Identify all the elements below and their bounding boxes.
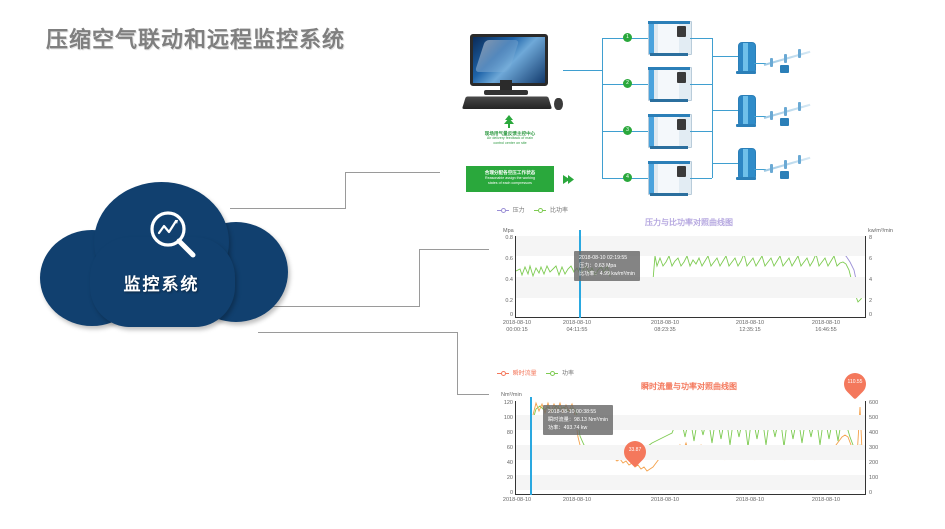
flow-x-tick-0: 2018-08-10 <box>487 497 547 504</box>
flow-y-tick-left-1: 100 <box>491 415 513 421</box>
legend-label-specific-power: 比功率 <box>550 208 568 214</box>
y-tick-right-4: 0 <box>869 312 891 318</box>
connector-line-middle-upper <box>419 249 489 250</box>
x-tick-4-date: 2018-08-10 <box>812 320 840 326</box>
pressure-y-axis-line-right <box>865 236 866 318</box>
y-tick-left-4: 0 <box>491 312 513 318</box>
flow-y-tick-left-0: 120 <box>491 400 513 406</box>
node-marker-2: 2 <box>623 79 632 88</box>
legend-item-specific-power[interactable]: 比功率 <box>534 205 568 214</box>
x-tick-2-time: 08:23:35 <box>654 327 675 333</box>
air-tank-foot <box>736 71 756 74</box>
pipe-collect-1 <box>690 38 712 39</box>
flow-tooltip: 2018-08-10 00:38:55 瞬时流量：98.13 Nm³/min 功… <box>543 405 613 435</box>
compressor-top <box>648 161 690 164</box>
green-arrow-right-icon <box>562 173 575 186</box>
plot-band-1 <box>516 236 865 256</box>
x-tick-1-time: 04:11:55 <box>566 327 587 333</box>
flow-x-tick-2: 2018-08-10 <box>635 497 695 504</box>
flow-tooltip-line1: 瞬时流量：98.13 Nm³/min <box>548 416 608 424</box>
working-state-callout-cn: 合理分配各空压工作状态 <box>466 169 554 176</box>
x-tick-1: 2018-08-10 04:11:55 <box>547 320 607 334</box>
connector-line-bottom <box>258 332 458 333</box>
pipe-out-3 <box>712 163 738 164</box>
magnifier-chart-icon <box>144 206 204 266</box>
compressor-unit-4 <box>648 161 690 197</box>
node-marker-1: 1 <box>623 33 632 42</box>
mouse-icon <box>554 98 563 110</box>
flow-y-tick-left-5: 20 <box>491 475 513 481</box>
machine-icon <box>780 171 789 179</box>
green-tree-icon <box>501 114 517 130</box>
pressure-y-axis-unit: Mpa <box>503 228 514 234</box>
flow-tooltip-time: 2018-08-10 00:38:55 <box>548 408 608 416</box>
connector-line-top-vertical <box>345 172 346 209</box>
drop-line-3 <box>798 49 801 58</box>
monitoring-system-cloud[interactable]: 监控系统 <box>34 182 289 327</box>
compressor-control-panel <box>677 72 686 83</box>
system-diagram: 现场用气量反馈主控中心 Air delivery feedback of mai… <box>440 18 940 200</box>
flow-y-tick-left-6: 0 <box>491 490 513 496</box>
legend-item-instant-flow[interactable]: 瞬时流量 <box>497 368 537 377</box>
pin-value-min: 33.87 <box>624 447 646 453</box>
pipe-monitor-to-bus <box>563 70 603 71</box>
x-tick-2: 2018-08-10 08:23:35 <box>635 320 695 334</box>
y-tick-left-3: 0.2 <box>491 298 513 304</box>
pipe-collect-2 <box>690 84 712 85</box>
flow-x-tick-1: 2018-08-10 <box>547 497 607 504</box>
flow-vs-power-chart[interactable]: 瞬时流量 功率 瞬时流量与功率对照曲线图 Nm³/min 120 100 80 … <box>489 363 889 529</box>
y-tick-right-1: 6 <box>869 256 891 262</box>
pressure-chart-legend[interactable]: 压力 比功率 <box>497 205 576 214</box>
flow-y-tick-right-4: 200 <box>869 460 891 466</box>
flow-marker-pin-max[interactable]: 110.55 <box>844 373 866 401</box>
flow-marker-pin-min[interactable]: 33.87 <box>624 441 646 469</box>
flow-chart-legend[interactable]: 瞬时流量 功率 <box>497 368 582 377</box>
legend-label-pressure: 压力 <box>513 208 525 214</box>
x-tick-3-time: 12:35:15 <box>739 327 760 333</box>
compressor-unit-2 <box>648 67 690 103</box>
pressure-tooltip-line1: 压力：0.63 Mpa <box>579 262 635 270</box>
x-tick-0-date: 2018-08-10 <box>503 320 531 326</box>
flow-y-axis-unit: Nm³/min <box>501 392 522 398</box>
x-tick-0: 2018-08-10 00:00:15 <box>487 320 547 334</box>
flow-x-tick-4: 2018-08-10 <box>796 497 856 504</box>
keyboard-icon <box>462 97 552 110</box>
legend-marker-pressure <box>497 207 509 213</box>
flow-y-tick-left-2: 80 <box>491 430 513 436</box>
drop-line-2 <box>784 107 787 116</box>
flow-y-tick-right-0: 600 <box>869 400 891 406</box>
x-tick-1-date: 2018-08-10 <box>563 320 591 326</box>
compressor-control-panel <box>677 119 686 130</box>
y-tick-left-1: 0.6 <box>491 256 513 262</box>
compressor-foot <box>650 146 688 149</box>
compressor-top <box>648 114 690 117</box>
y-tick-right-0: 8 <box>869 235 891 241</box>
connector-line-bottom-vertical <box>457 332 458 395</box>
pressure-y-axis-unit-right: kw/m³/min <box>868 228 893 234</box>
air-tank-foot <box>736 177 756 180</box>
x-tick-3: 2018-08-10 12:35:15 <box>720 320 780 334</box>
flow-cursor-line <box>530 397 532 495</box>
compressor-unit-3 <box>648 114 690 150</box>
legend-marker-specific-power <box>534 207 546 213</box>
drop-line-1 <box>770 58 773 67</box>
air-tank-foot <box>736 124 756 127</box>
x-tick-3-date: 2018-08-10 <box>736 320 764 326</box>
flow-plot-band-3 <box>516 475 865 490</box>
pressure-tooltip-time: 2018-08-10 02:19:55 <box>579 254 635 262</box>
pipe-collect-4 <box>690 178 712 179</box>
legend-label-power: 功率 <box>562 371 574 377</box>
node-marker-4: 4 <box>623 173 632 182</box>
control-center-label: 现场用气量反馈主控中心 Air delivery feedback of mai… <box>462 131 558 146</box>
legend-marker-instant-flow <box>497 370 509 376</box>
drop-line-2 <box>784 54 787 63</box>
machine-icon <box>780 65 789 73</box>
pressure-tooltip-line2: 比功率：4.99 kw/m³/min <box>579 270 635 278</box>
drop-line-3 <box>798 155 801 164</box>
compressor-foot <box>650 99 688 102</box>
working-state-callout: 合理分配各空压工作状态 Reasonable assign the workin… <box>466 166 554 192</box>
pressure-chart-title: 压力与比功率对照曲线图 <box>489 217 889 228</box>
compressor-foot <box>650 53 688 56</box>
pressure-x-axis-line <box>515 317 866 318</box>
plot-band-2 <box>516 277 865 298</box>
monitor-base <box>484 90 528 95</box>
connector-line-middle-vertical <box>419 249 420 307</box>
control-center-label-en2: control center on site <box>493 141 526 145</box>
control-center-label-en1: Air delivery feedback of main <box>487 136 533 140</box>
air-tank-icon <box>738 42 756 74</box>
flow-y-tick-right-6: 0 <box>869 490 891 496</box>
flow-tooltip-line2: 功率：493.74 kw <box>548 424 608 432</box>
flow-y-tick-right-3: 300 <box>869 445 891 451</box>
pipe-out-1 <box>712 56 738 57</box>
flow-chart-title: 瞬时流量与功率对照曲线图 <box>489 381 889 392</box>
page-title: 压缩空气联动和远程监控系统 <box>46 22 345 54</box>
connector-line-bottom-lower <box>457 394 489 395</box>
cloud-label: 监控系统 <box>34 270 289 295</box>
pin-value-max: 110.55 <box>844 379 866 385</box>
pipe-right-bus <box>712 38 713 178</box>
pressure-tooltip: 2018-08-10 02:19:55 压力：0.63 Mpa 比功率：4.99… <box>574 251 640 281</box>
compressor-foot <box>650 193 688 196</box>
connector-line-top-upper <box>345 172 440 173</box>
y-tick-left-0: 0.8 <box>491 235 513 241</box>
drop-line-3 <box>798 102 801 111</box>
compressor-top <box>648 67 690 70</box>
flow-x-axis-line <box>515 494 866 495</box>
legend-label-instant-flow: 瞬时流量 <box>513 371 537 377</box>
flow-y-tick-right-5: 100 <box>869 475 891 481</box>
pipe-collect-3 <box>690 131 712 132</box>
drop-line-1 <box>770 164 773 173</box>
node-marker-3: 3 <box>623 126 632 135</box>
x-tick-4-time: 16:46:55 <box>815 327 836 333</box>
machine-icon <box>780 118 789 126</box>
compressor-control-panel <box>677 166 686 177</box>
compressor-top <box>648 21 690 24</box>
pipe-out-2 <box>712 110 738 111</box>
flow-y-tick-left-4: 40 <box>491 460 513 466</box>
legend-marker-power <box>546 370 558 376</box>
x-tick-4: 2018-08-10 16:46:55 <box>796 320 856 334</box>
x-tick-2-date: 2018-08-10 <box>651 320 679 326</box>
flow-y-tick-left-3: 60 <box>491 445 513 451</box>
pipe-left-bus <box>602 38 603 178</box>
legend-item-pressure[interactable]: 压力 <box>497 205 525 214</box>
compressor-control-panel <box>677 26 686 37</box>
flow-y-tick-right-1: 500 <box>869 415 891 421</box>
compressor-unit-1 <box>648 21 690 57</box>
flow-y-axis-line-right <box>865 401 866 495</box>
legend-item-power[interactable]: 功率 <box>546 368 574 377</box>
y-tick-left-2: 0.4 <box>491 277 513 283</box>
x-tick-0-time: 00:00:15 <box>506 327 527 333</box>
air-tank-icon <box>738 148 756 180</box>
working-state-callout-en2: states of each compressors <box>466 181 554 186</box>
flow-plot-band-2 <box>516 445 865 460</box>
y-tick-right-2: 4 <box>869 277 891 283</box>
pressure-plot-area <box>516 236 865 317</box>
drop-line-2 <box>784 160 787 169</box>
flow-y-tick-right-2: 400 <box>869 430 891 436</box>
y-tick-right-3: 2 <box>869 298 891 304</box>
pressure-vs-specific-power-chart[interactable]: 压力 比功率 压力与比功率对照曲线图 Mpa kw/m³/min 0.8 0.6… <box>489 200 889 335</box>
air-tank-icon <box>738 95 756 127</box>
drop-line-1 <box>770 111 773 120</box>
flow-x-tick-3: 2018-08-10 <box>720 497 780 504</box>
